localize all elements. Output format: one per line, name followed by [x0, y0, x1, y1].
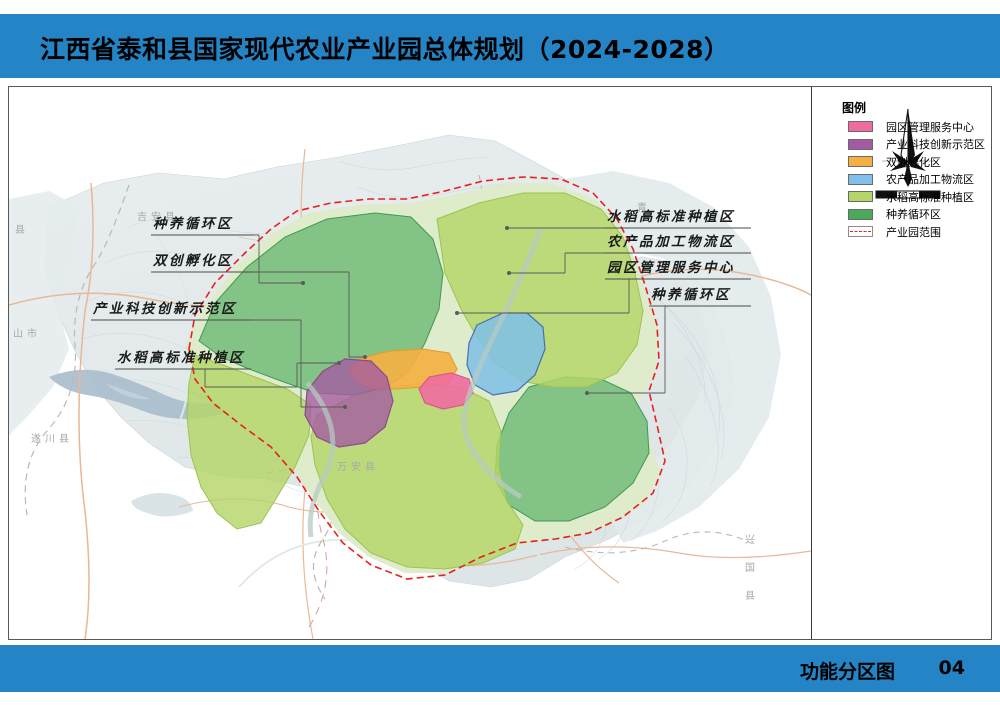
callout-right-3: 种养循环区 [651, 289, 731, 303]
callout-left-2: 产业科技创新示范区 [93, 303, 237, 317]
callout-left-1: 双创孵化区 [153, 255, 233, 269]
geo-label-qing: 青 [637, 199, 651, 214]
legend-item-1[interactable]: 产业科技创新示范区 [848, 137, 985, 152]
legend-swatch-rice-planting [848, 191, 873, 202]
callout-right-0: 水稻高标准种植区 [607, 211, 735, 225]
geo-label-xian2: 县 [745, 587, 759, 602]
geo-label-xing: 兴 [745, 531, 759, 546]
legend-label-5: 种养循环区 [886, 206, 941, 222]
legend-list: 园区管理服务中心 产业科技创新示范区 双创孵化区 农产品加工物流区 水稻高标准种… [848, 119, 985, 242]
legend-item-3[interactable]: 农产品加工物流区 [848, 172, 985, 187]
poster-header: 江西省泰和县国家现代农业产业园总体规划（2024-2028） [0, 14, 1000, 78]
geo-label-suichuan: 遂川县 [31, 430, 73, 445]
legend-label-1: 产业科技创新示范区 [886, 136, 985, 152]
legend-swatch-breeding-cycle [848, 209, 873, 220]
map-frame: 种养循环区 双创孵化区 产业科技创新示范区 水稻高标准种植区 水稻高标准种植区 … [8, 86, 992, 640]
legend-label-4: 水稻高标准种植区 [886, 189, 974, 205]
page-number: 04 [939, 657, 965, 679]
legend-label-0: 园区管理服务中心 [886, 119, 974, 135]
geo-label-guo: 国 [745, 559, 759, 574]
legend-item-6[interactable]: 产业园范围 [848, 224, 985, 239]
legend-swatch-park-boundary [848, 226, 873, 237]
legend-swatch-management-center [848, 121, 873, 132]
legend-label-3: 农产品加工物流区 [886, 171, 974, 187]
callout-right-2: 园区管理服务中心 [607, 262, 735, 276]
callout-right-1: 农产品加工物流区 [607, 236, 735, 250]
legend-label-6: 产业园范围 [886, 224, 941, 240]
poster-page: 江西省泰和县国家现代农业产业园总体规划（2024-2028） [0, 0, 1000, 706]
poster-footer: 功能分区图 04 [0, 645, 1000, 692]
legend-swatch-processing-logistics [848, 174, 873, 185]
geo-label-jian: 吉安县 [137, 208, 179, 223]
footer-title: 功能分区图 [800, 657, 895, 684]
legend-title: 图例 [842, 99, 866, 116]
legend-item-2[interactable]: 双创孵化区 [848, 154, 985, 169]
legend-swatch-innovation-demo [848, 139, 873, 150]
legend-item-4[interactable]: 水稻高标准种植区 [848, 189, 985, 204]
legend-swatch-incubator [848, 156, 873, 167]
map-pane[interactable]: 种养循环区 双创孵化区 产业科技创新示范区 水稻高标准种植区 水稻高标准种植区 … [9, 87, 811, 639]
page-title: 江西省泰和县国家现代农业产业园总体规划（2024-2028） [40, 30, 730, 66]
legend-item-0[interactable]: 园区管理服务中心 [848, 119, 985, 134]
legend-pane: 图例 园区管理服务中心 产业科技创新示范区 双创孵化区 农产品加工物流区 [812, 87, 991, 639]
callout-left-3: 水稻高标准种植区 [117, 352, 245, 366]
legend-label-2: 双创孵化区 [886, 154, 941, 170]
geo-label-edge-shanshi: 山市 [13, 325, 41, 340]
geo-label-wanan: 万安县 [337, 458, 379, 473]
legend-item-5[interactable]: 种养循环区 [848, 207, 985, 222]
geo-label-edge-xian: 县 [15, 221, 29, 236]
